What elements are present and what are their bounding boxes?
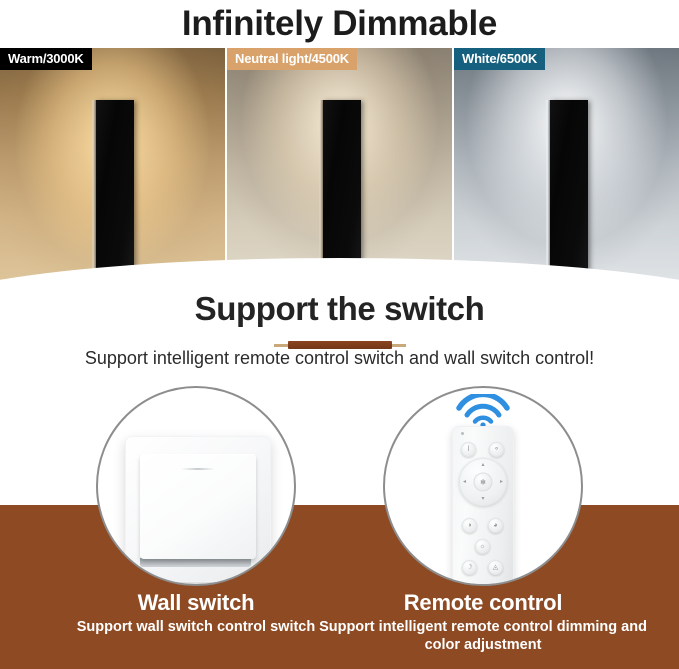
- caption-remote-control: Remote control Support intelligent remot…: [318, 590, 648, 654]
- dpad-control[interactable]: ▴ ▾ ◂ ▸ ✻: [459, 458, 507, 506]
- feature-remote-control: l ⚬ ▴ ▾ ◂ ▸ ✻ ◑ ◕ ☼ ☽ ◬: [383, 386, 583, 586]
- night-mode-button[interactable]: ☽: [462, 560, 477, 575]
- brightness-down-button[interactable]: ◑: [462, 518, 477, 533]
- panel-warm-3000k: Warm/3000K: [0, 48, 225, 293]
- dpad-down-button[interactable]: ▾: [481, 496, 484, 502]
- wall-switch-circle: [96, 386, 296, 586]
- wall-switch-icon: [125, 436, 271, 582]
- section-title: Support the switch: [0, 290, 679, 328]
- badge-white-6500k: White/6500K: [454, 48, 545, 70]
- divider-cap-right: [392, 344, 406, 347]
- color-temperature-panels: Warm/3000K Neutral light/4500K White/650…: [0, 48, 679, 293]
- remote-control-circle: l ⚬ ▴ ▾ ◂ ▸ ✻ ◑ ◕ ☼ ☽ ◬: [383, 386, 583, 586]
- section-caption: Support intelligent remote control switc…: [0, 348, 679, 369]
- feature-wall-switch: [96, 386, 296, 586]
- timer-button[interactable]: ◬: [488, 560, 503, 575]
- panel-neutral-4500k: Neutral light/4500K: [227, 48, 452, 293]
- switch-rocker: [140, 454, 256, 559]
- caption-wall-switch: Wall switch Support wall switch control …: [31, 590, 361, 637]
- dpad-left-button[interactable]: ◂: [463, 479, 466, 485]
- color-temp-button[interactable]: ☼: [475, 539, 490, 554]
- remote-control-description: Support intelligent remote control dimmi…: [318, 619, 648, 654]
- divider-cap-left: [274, 344, 288, 347]
- wall-lamp-white-icon: [546, 100, 588, 293]
- dpad-right-button[interactable]: ▸: [500, 479, 503, 485]
- badge-warm-3000k: Warm/3000K: [0, 48, 92, 70]
- brightness-up-button[interactable]: ◕: [488, 518, 503, 533]
- wall-lamp-warm-icon: [92, 100, 134, 293]
- wall-switch-description: Support wall switch control switch: [31, 619, 361, 637]
- switch-rocker-shadow: [140, 558, 251, 567]
- page-title: Infinitely Dimmable: [0, 0, 679, 48]
- product-feature-page: Infinitely Dimmable Warm/3000K Neutral l…: [0, 0, 679, 669]
- support-switch-section: Support the switch Support intelligent r…: [0, 290, 679, 669]
- panel-white-6500k: White/6500K: [454, 48, 679, 293]
- remote-control-title: Remote control: [318, 590, 648, 616]
- lamp-body: [96, 100, 134, 293]
- badge-neutral-4500k: Neutral light/4500K: [227, 48, 357, 70]
- dpad-center-button[interactable]: ✻: [474, 473, 493, 492]
- switch-brand-mark: [181, 468, 215, 470]
- power-on-button[interactable]: l: [461, 442, 476, 457]
- remote-control-icon: l ⚬ ▴ ▾ ◂ ▸ ✻ ◑ ◕ ☼ ☽ ◬: [452, 426, 514, 586]
- remote-ir-led: [461, 432, 464, 435]
- wall-switch-title: Wall switch: [31, 590, 361, 616]
- dpad-up-button[interactable]: ▴: [481, 462, 484, 468]
- lamp-body: [550, 100, 588, 293]
- power-off-button[interactable]: ⚬: [489, 442, 504, 457]
- wifi-icon: [455, 394, 511, 426]
